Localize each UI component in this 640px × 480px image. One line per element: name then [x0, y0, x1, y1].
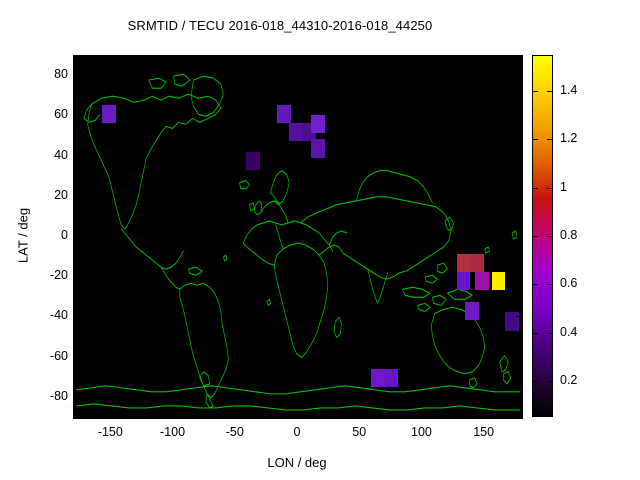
- x-tick-mark: [173, 55, 174, 60]
- chart-root: SRMTID / TECU 2016-018_44310-2016-018_44…: [0, 0, 640, 480]
- x-tick-mark: [421, 55, 422, 60]
- colorbar-tick-label: 1: [560, 181, 606, 194]
- colorbar-tick-mark: [532, 139, 538, 140]
- x-tick-mark: [235, 55, 236, 60]
- colorbar-tick-mark: [532, 91, 538, 92]
- y-tick-mark: [73, 397, 78, 398]
- y-tick-mark: [516, 75, 521, 76]
- data-cell: [289, 123, 303, 141]
- x-tick-label: -50: [205, 426, 265, 439]
- x-tick-label: 150: [454, 426, 514, 439]
- y-tick-mark: [516, 357, 521, 358]
- y-tick-mark: [73, 357, 78, 358]
- x-tick-mark: [359, 412, 360, 417]
- colorbar-tick-label: 0.8: [560, 229, 606, 242]
- x-tick-label: 100: [391, 426, 451, 439]
- colorbar-tick-mark: [547, 188, 553, 189]
- data-cells-layer: [74, 56, 522, 418]
- y-tick-mark: [73, 115, 78, 116]
- data-cell: [492, 272, 506, 290]
- x-tick-mark: [484, 55, 485, 60]
- x-tick-label: -150: [80, 426, 140, 439]
- x-tick-mark: [173, 412, 174, 417]
- y-tick-mark: [516, 196, 521, 197]
- y-tick-mark: [516, 316, 521, 317]
- x-tick-label: 50: [329, 426, 389, 439]
- data-cell: [475, 272, 489, 290]
- data-cell: [384, 369, 398, 387]
- y-axis-label: LAT / deg: [16, 171, 31, 301]
- data-cell: [311, 115, 325, 133]
- chart-title: SRMTID / TECU 2016-018_44310-2016-018_44…: [0, 18, 560, 33]
- data-cell: [277, 105, 291, 123]
- y-tick-mark: [73, 196, 78, 197]
- colorbar-tick-label: 1.4: [560, 84, 606, 97]
- y-tick-label: 40: [34, 149, 68, 162]
- x-tick-mark: [235, 412, 236, 417]
- colorbar-tick-mark: [532, 333, 538, 334]
- x-tick-label: 0: [267, 426, 327, 439]
- colorbar-tick-mark: [532, 188, 538, 189]
- y-tick-mark: [73, 316, 78, 317]
- y-tick-mark: [73, 276, 78, 277]
- y-tick-mark: [516, 115, 521, 116]
- colorbar-tick-mark: [547, 333, 553, 334]
- data-cell: [371, 369, 385, 387]
- data-cell: [457, 254, 471, 272]
- data-cell: [457, 272, 471, 290]
- colorbar-tick-mark: [547, 381, 553, 382]
- colorbar-tick-mark: [547, 284, 553, 285]
- colorbar-tick-mark: [532, 284, 538, 285]
- y-tick-label: 0: [34, 229, 68, 242]
- x-tick-mark: [359, 55, 360, 60]
- y-tick-label: -40: [34, 309, 68, 322]
- data-cell: [465, 302, 479, 320]
- data-cell: [246, 152, 260, 170]
- x-tick-mark: [297, 412, 298, 417]
- colorbar-tick-label: 0.6: [560, 277, 606, 290]
- y-tick-label: -60: [34, 350, 68, 363]
- colorbar-tick-label: 0.4: [560, 326, 606, 339]
- y-tick-mark: [73, 236, 78, 237]
- y-tick-mark: [516, 397, 521, 398]
- y-tick-label: 60: [34, 108, 68, 121]
- y-tick-mark: [516, 276, 521, 277]
- colorbar-tick-mark: [547, 236, 553, 237]
- colorbar-tick-mark: [547, 91, 553, 92]
- colorbar-tick-label: 0.2: [560, 374, 606, 387]
- x-tick-label: -100: [143, 426, 203, 439]
- colorbar-tick-mark: [547, 139, 553, 140]
- x-tick-mark: [110, 55, 111, 60]
- y-tick-mark: [73, 156, 78, 157]
- colorbar-tick-mark: [532, 236, 538, 237]
- y-tick-mark: [516, 156, 521, 157]
- y-tick-mark: [516, 236, 521, 237]
- x-tick-mark: [484, 412, 485, 417]
- plot-area: [73, 55, 523, 419]
- colorbar-tick-label: 1.2: [560, 132, 606, 145]
- y-tick-label: 80: [34, 68, 68, 81]
- x-tick-mark: [297, 55, 298, 60]
- data-cell: [311, 139, 325, 157]
- y-tick-label: 20: [34, 189, 68, 202]
- x-axis-label: LON / deg: [73, 455, 521, 470]
- data-cell: [505, 312, 519, 330]
- data-cell: [470, 254, 484, 272]
- x-tick-mark: [110, 412, 111, 417]
- y-tick-label: -20: [34, 269, 68, 282]
- data-cell: [102, 105, 116, 123]
- y-tick-label: -80: [34, 390, 68, 403]
- x-tick-mark: [421, 412, 422, 417]
- colorbar-tick-mark: [532, 381, 538, 382]
- y-tick-mark: [73, 75, 78, 76]
